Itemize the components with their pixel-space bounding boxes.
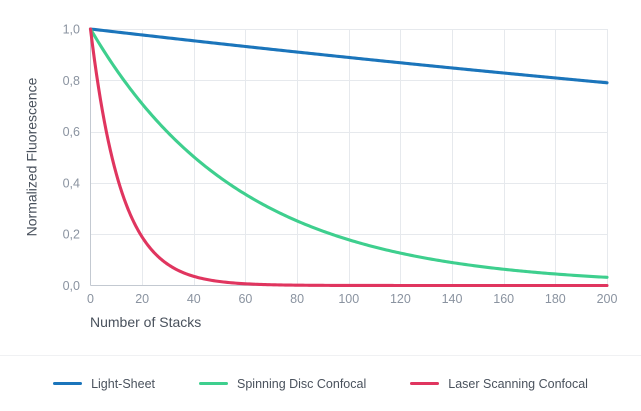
legend-color-swatch: [199, 382, 228, 385]
legend-area: Light-SheetSpinning Disc ConfocalLaser S…: [0, 355, 641, 410]
legend-color-swatch: [53, 382, 82, 385]
x-tick-label: 120: [390, 292, 411, 306]
x-tick-label: 140: [442, 292, 463, 306]
series-line-laser-scanning-confocal: [91, 29, 608, 286]
y-tick-label: 1,0: [63, 23, 80, 37]
legend-item[interactable]: Spinning Disc Confocal: [199, 377, 366, 391]
legend-item-label: Laser Scanning Confocal: [448, 377, 588, 391]
y-tick-label: 0,2: [63, 228, 80, 242]
x-tick-label: 60: [238, 292, 252, 306]
y-tick-label: 0,6: [63, 125, 80, 139]
x-tick-labels: 020406080100120140160180200: [87, 292, 617, 306]
y-axis-title: Normalized Fluorescence: [24, 77, 40, 236]
x-axis-title: Number of Stacks: [90, 314, 201, 330]
legend-item[interactable]: Light-Sheet: [53, 377, 155, 391]
legend-item[interactable]: Laser Scanning Confocal: [410, 377, 588, 391]
plot-figure-area: 1,00,80,60,40,20,0 020406080100120140160…: [0, 0, 641, 355]
y-tick-label: 0,4: [63, 176, 80, 190]
x-tick-label: 200: [597, 292, 618, 306]
line-chart-svg: 1,00,80,60,40,20,0 020406080100120140160…: [0, 0, 641, 355]
x-tick-label: 80: [290, 292, 304, 306]
x-tick-label: 180: [545, 292, 566, 306]
legend-item-label: Light-Sheet: [91, 377, 155, 391]
series-line-light-sheet: [91, 29, 608, 83]
legend-color-swatch: [410, 382, 439, 385]
series-group: [91, 29, 608, 286]
series-line-spinning-disc-confocal: [91, 29, 608, 277]
legend-item-label: Spinning Disc Confocal: [237, 377, 366, 391]
x-tick-label: 160: [493, 292, 514, 306]
x-tick-label: 40: [187, 292, 201, 306]
x-tick-label: 0: [87, 292, 94, 306]
x-tick-label: 100: [338, 292, 359, 306]
x-tick-label: 20: [135, 292, 149, 306]
y-tick-labels: 1,00,80,60,40,20,0: [63, 23, 80, 294]
y-tick-label: 0,8: [63, 74, 80, 88]
legend-row: Light-SheetSpinning Disc ConfocalLaser S…: [0, 356, 641, 411]
chart-root: 1,00,80,60,40,20,0 020406080100120140160…: [0, 0, 641, 410]
y-tick-label: 0,0: [63, 279, 80, 293]
